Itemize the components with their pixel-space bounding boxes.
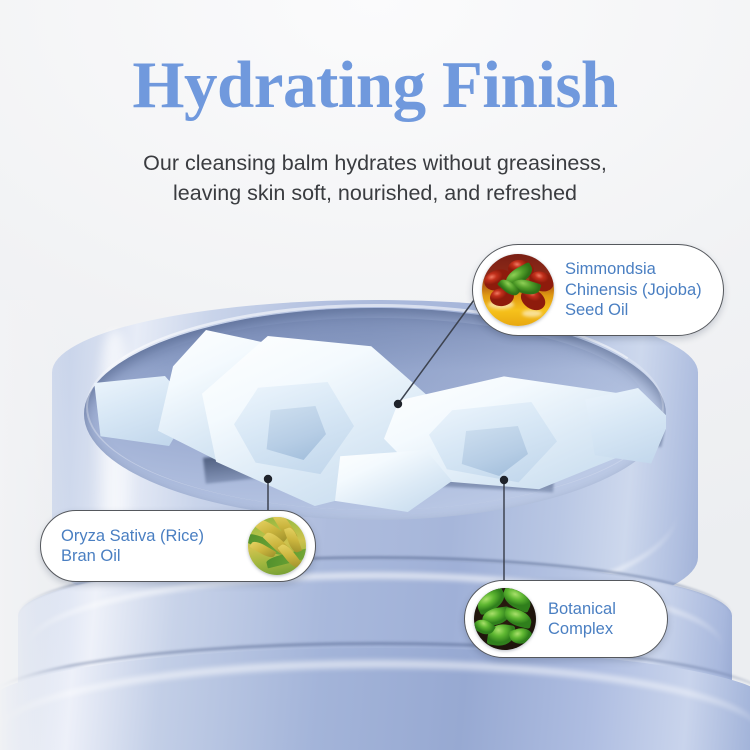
page-subtitle: Our cleansing balm hydrates without grea… xyxy=(75,148,675,208)
page-title: Hydrating Finish xyxy=(0,47,750,123)
callout-jojoba[interactable]: Simmondsia Chinensis (Jojoba) Seed Oil xyxy=(472,244,724,336)
callout-rice[interactable]: Oryza Sativa (Rice) Bran Oil xyxy=(40,510,316,582)
callout-jojoba-line-2: Chinensis (Jojoba) xyxy=(565,280,702,301)
mint-leaves-photo xyxy=(474,588,536,650)
callout-botanical-label: Botanical Complex xyxy=(548,599,616,640)
product-marketing-image: Hydrating Finish Our cleansing balm hydr… xyxy=(0,0,750,750)
rice-stalks-photo xyxy=(248,517,306,575)
callout-jojoba-line-1: Simmondsia xyxy=(565,259,702,280)
subtitle-line-1: Our cleansing balm hydrates without grea… xyxy=(75,148,675,178)
callout-jojoba-line-3: Seed Oil xyxy=(565,300,702,321)
jojoba-berries-photo xyxy=(482,254,554,326)
callout-rice-line-2: Bran Oil xyxy=(61,546,248,567)
subtitle-line-2: leaving skin soft, nourished, and refres… xyxy=(75,178,675,208)
callout-botanical-line-1: Botanical xyxy=(548,599,616,620)
callout-jojoba-label: Simmondsia Chinensis (Jojoba) Seed Oil xyxy=(565,259,702,321)
callout-botanical-line-2: Complex xyxy=(548,619,616,640)
callout-botanical[interactable]: Botanical Complex xyxy=(464,580,668,658)
callout-rice-line-1: Oryza Sativa (Rice) xyxy=(61,526,248,547)
callout-rice-label: Oryza Sativa (Rice) Bran Oil xyxy=(61,526,248,567)
